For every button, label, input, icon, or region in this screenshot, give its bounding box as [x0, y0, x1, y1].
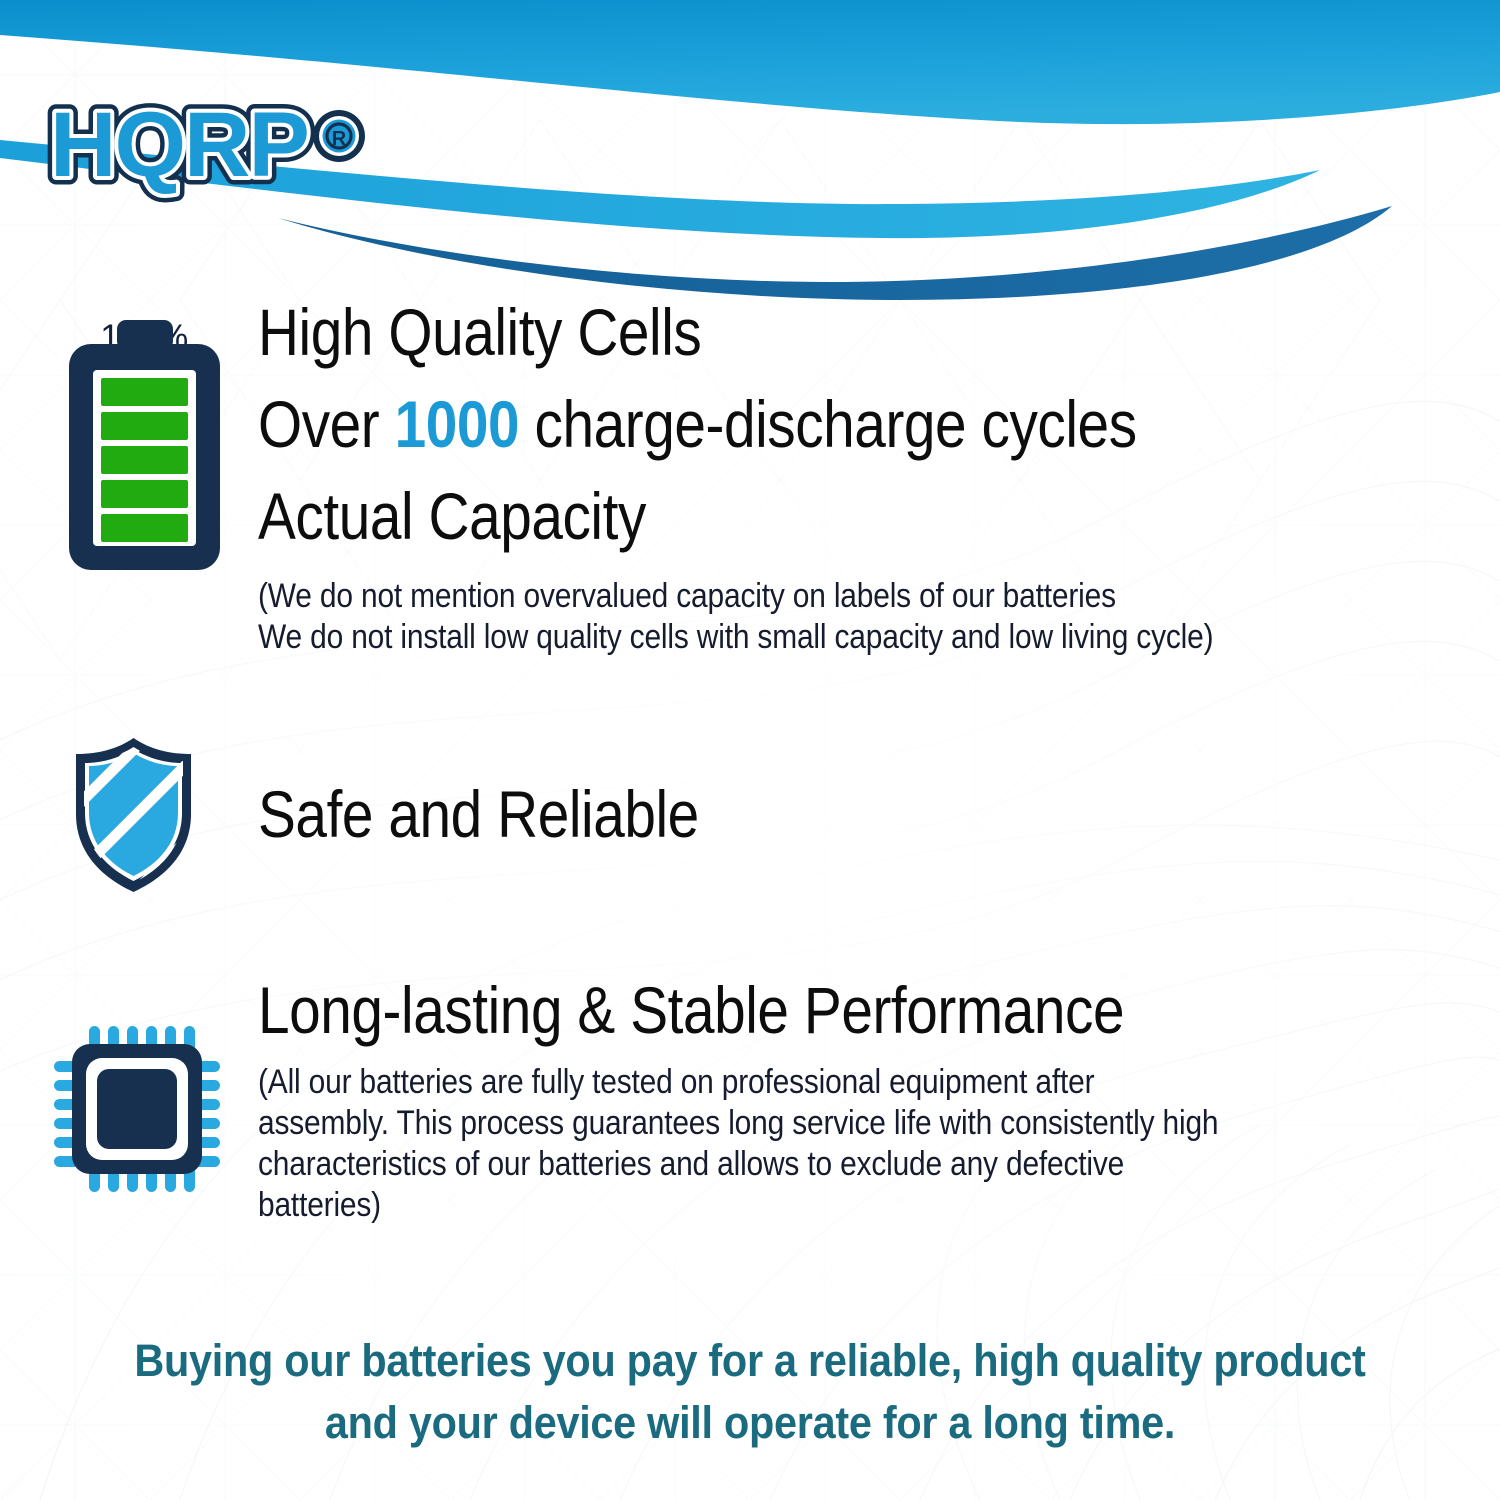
registered-trademark-icon: R [313, 110, 365, 162]
footer-tagline: Buying our batteries you pay for a relia… [60, 1330, 1440, 1454]
feature-3-body: (All our batteries are fully tested on p… [258, 1062, 1218, 1226]
feature-1-body: (We do not mention overvalued capacity o… [258, 576, 1213, 658]
cpu-chip-icon [52, 1024, 222, 1194]
feature-2-heading: Safe and Reliable [258, 776, 699, 852]
feature-1-heading-line-2: Actual Capacity [258, 478, 646, 554]
svg-text:HQRP: HQRP [50, 94, 308, 196]
feature-1-body-line-2: We do not install low quality cells with… [258, 617, 1213, 658]
feature-3-body-line-3: characteristics of our batteries and all… [258, 1144, 1218, 1185]
footer-tagline-line-2: and your device will operate for a long … [60, 1392, 1440, 1454]
cycles-count-highlight: 1000 [395, 387, 520, 461]
footer-tagline-line-1: Buying our batteries you pay for a relia… [60, 1330, 1440, 1392]
cycles-prefix: Over [258, 387, 395, 461]
cycles-suffix: charge-discharge cycles [519, 387, 1136, 461]
infographic-page: HQRP HQRP HQRP R 100% [0, 0, 1500, 1500]
feature-3-body-line-1: (All our batteries are fully tested on p… [258, 1062, 1218, 1103]
feature-3-heading: Long-lasting & Stable Performance [258, 972, 1124, 1048]
shield-icon [66, 735, 201, 895]
svg-text:R: R [332, 128, 347, 150]
feature-3-body-line-4: batteries) [258, 1185, 1218, 1226]
feature-1-heading-line-1: High Quality Cells [258, 294, 701, 370]
hqrp-logo: HQRP HQRP HQRP R [46, 88, 406, 208]
feature-3-body-line-2: assembly. This process guarantees long s… [258, 1103, 1218, 1144]
feature-1-heading-cycles: Over 1000 charge-discharge cycles [258, 386, 1137, 462]
battery-full-icon [62, 318, 227, 573]
feature-1-body-line-1: (We do not mention overvalued capacity o… [258, 576, 1213, 617]
